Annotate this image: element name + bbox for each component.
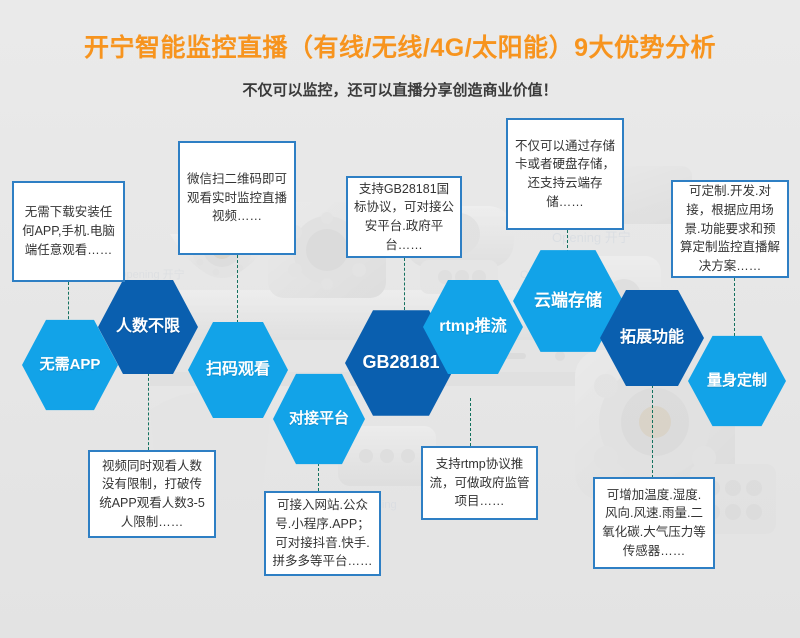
hex-custom-made[interactable]: 量身定制 — [688, 334, 786, 428]
callout-text-custom-made: 可定制.开发.对接，根据应用场景.功能要求和预算定制监控直播解决方案…… — [679, 182, 781, 276]
svg-text:Opening 开宁: Opening 开宁 — [118, 267, 185, 281]
page-subtitle: 不仅可以监控，还可以直播分享创造商业价值！ — [0, 79, 800, 100]
callout-text-unlimited-viewers: 视频同时观看人数没有限制，打破传统APP观看人数3-5人限制…… — [96, 457, 208, 532]
callout-text-no-app: 无需下载安装任何APP,手机.电脑端任意观看…… — [20, 203, 117, 259]
hex-label-platform-integration: 对接平台 — [285, 411, 353, 428]
callout-text-expansion-features: 可增加温度.湿度.风向.风速.雨量.二氧化碳.大气压力等传感器…… — [601, 486, 707, 561]
hex-label-no-app: 无需APP — [36, 357, 105, 374]
callout-unlimited-viewers: 视频同时观看人数没有限制，打破传统APP观看人数3-5人限制…… — [88, 450, 216, 538]
callout-scan-to-watch: 微信扫二维码即可观看实时监控直播视频…… — [178, 141, 296, 255]
hex-label-custom-made: 量身定制 — [703, 373, 771, 390]
callout-cloud-storage: 不仅可以通过存储卡或者硬盘存储，还支持云端存储…… — [506, 118, 624, 230]
page-title: 开宁智能监控直播（有线/无线/4G/太阳能）9大优势分析 — [0, 28, 800, 64]
callout-text-cloud-storage: 不仅可以通过存储卡或者硬盘存储，还支持云端存储…… — [514, 137, 616, 212]
hex-scan-to-watch[interactable]: 扫码观看 — [188, 320, 288, 420]
connector-no-app — [68, 282, 69, 324]
callout-platform-integration: 可接入网站.公众号.小程序.APP；可对接抖音.快手.拼多多等平台…… — [264, 491, 381, 576]
callout-text-gb28181: 支持GB28181国标协议，可对接公安平台.政府平台…… — [354, 180, 454, 255]
hex-label-gb28181: GB28181 — [358, 353, 443, 373]
connector-expansion-features — [652, 380, 653, 478]
hex-label-cloud-storage: 云端存储 — [530, 292, 606, 311]
infographic-canvas: Opening 开宁 — [0, 0, 800, 638]
connector-scan-to-watch — [237, 255, 238, 323]
hex-label-expansion-features: 拓展功能 — [616, 329, 688, 347]
callout-text-rtmp-push: 支持rtmp协议推流，可做政府监管项目…… — [429, 455, 530, 511]
callout-rtmp-push: 支持rtmp协议推流，可做政府监管项目…… — [421, 446, 538, 520]
connector-gb28181 — [404, 258, 405, 310]
connector-custom-made — [734, 278, 735, 336]
hex-label-rtmp-push: rtmp推流 — [435, 318, 511, 336]
callout-text-platform-integration: 可接入网站.公众号.小程序.APP；可对接抖音.快手.拼多多等平台…… — [272, 496, 373, 571]
hex-label-scan-to-watch: 扫码观看 — [202, 361, 274, 379]
hex-platform-integration[interactable]: 对接平台 — [273, 372, 365, 466]
callout-no-app: 无需下载安装任何APP,手机.电脑端任意观看…… — [12, 181, 125, 282]
connector-rtmp-push — [470, 398, 471, 446]
svg-text:Opening 开宁: Opening 开宁 — [552, 230, 631, 245]
connector-unlimited-viewers — [148, 368, 149, 450]
hex-label-unlimited-viewers: 人数不限 — [112, 318, 184, 336]
callout-text-scan-to-watch: 微信扫二维码即可观看实时监控直播视频…… — [186, 170, 288, 226]
callout-gb28181: 支持GB28181国标协议，可对接公安平台.政府平台…… — [346, 176, 462, 258]
callout-expansion-features: 可增加温度.湿度.风向.风速.雨量.二氧化碳.大气压力等传感器…… — [593, 477, 715, 569]
callout-custom-made: 可定制.开发.对接，根据应用场景.功能要求和预算定制监控直播解决方案…… — [671, 180, 789, 278]
